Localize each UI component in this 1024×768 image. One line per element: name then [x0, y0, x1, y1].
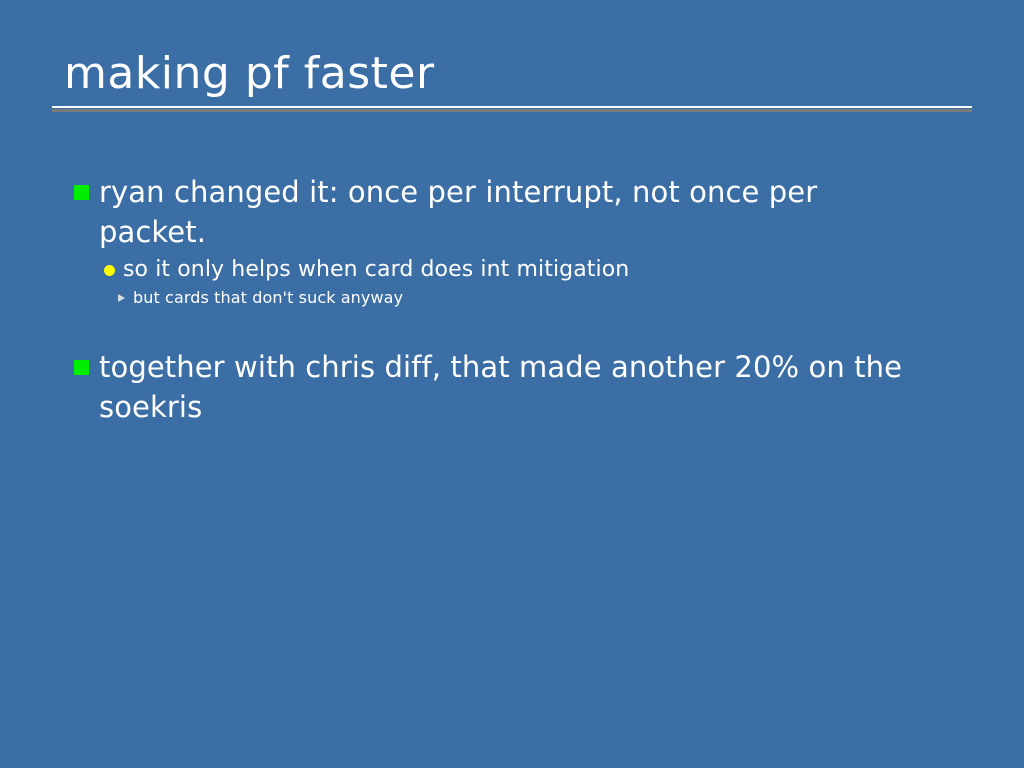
title-divider [52, 106, 972, 108]
list-item-label: so it only helps when card does int miti… [123, 254, 629, 285]
slide-body: ryan changed it: once per interrupt, not… [74, 172, 964, 427]
triangle-bullet-icon [118, 294, 125, 302]
list-item-label: ryan changed it: once per interrupt, not… [99, 172, 929, 252]
square-bullet-icon [74, 185, 89, 200]
list-item-label: but cards that don't suck anyway [133, 286, 403, 309]
presentation-slide: making pf faster ryan changed it: once p… [0, 0, 1024, 768]
list-item: but cards that don't suck anyway [118, 286, 964, 309]
slide-title-block: making pf faster [52, 48, 972, 108]
page-title: making pf faster [52, 48, 972, 100]
list-item-label: together with chris diff, that made anot… [99, 347, 929, 427]
list-item: ryan changed it: once per interrupt, not… [74, 172, 964, 252]
list-item: so it only helps when card does int miti… [104, 254, 964, 285]
dot-bullet-icon [104, 265, 115, 276]
square-bullet-icon [74, 360, 89, 375]
list-item: together with chris diff, that made anot… [74, 347, 964, 427]
bullet-group-spacer [74, 309, 964, 347]
